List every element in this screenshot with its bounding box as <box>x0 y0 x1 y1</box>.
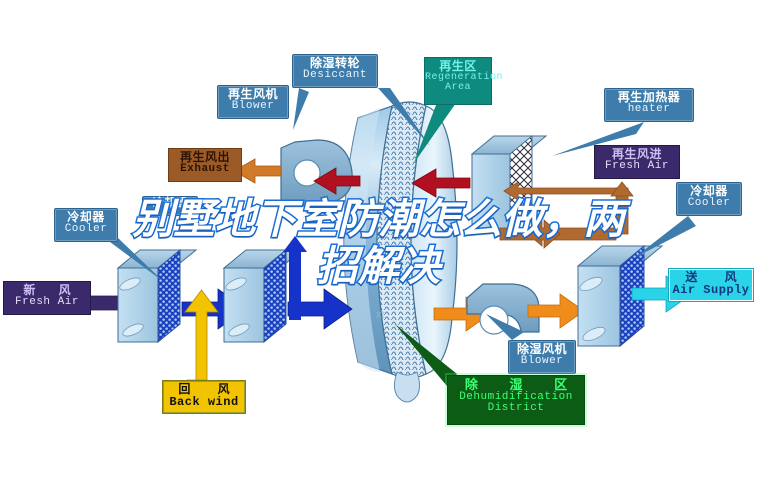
regeneration-heater-graphic <box>472 136 546 230</box>
label-back-wind[interactable]: 回 风 Back wind <box>162 380 246 414</box>
dehumidifier-schematic: xt <box>0 0 757 488</box>
label-process-fresh-air-en: Fresh Air <box>4 297 90 309</box>
label-regeneration-heater[interactable]: 再生加热器 heater <box>604 88 694 122</box>
label-desiccant-rotor-en: Desiccant <box>293 70 377 82</box>
label-air-supply-en: Air Supply <box>669 284 753 297</box>
label-back-wind-en: Back wind <box>163 396 245 409</box>
desiccant-rotor-graphic: xt <box>344 102 457 402</box>
label-cooler-left-en: Cooler <box>55 224 117 236</box>
label-dehumidification-blower-en: Blower <box>509 356 575 368</box>
label-regeneration-exhaust-en: Exhaust <box>169 164 241 176</box>
label-regeneration-fresh-air[interactable]: 再生风进 Fresh Air <box>594 145 680 179</box>
label-cooler-right-cn: 冷却器 <box>677 185 741 198</box>
label-regeneration-blower-en: Blower <box>218 101 288 113</box>
label-cooler-mid-cn: 冷却器 <box>143 198 197 210</box>
label-regeneration-heater-en: heater <box>605 104 693 116</box>
label-regeneration-fresh-air-cn: 再生风进 <box>595 148 679 161</box>
label-regeneration-fresh-air-en: Fresh Air <box>595 161 679 173</box>
label-cooler-right[interactable]: 冷却器 Cooler <box>676 182 742 216</box>
label-regeneration-blower-cn: 再生风机 <box>218 88 288 101</box>
label-back-wind-cn: 回 风 <box>163 383 245 396</box>
label-regeneration-area[interactable]: 再生区 Regeneration Area <box>424 57 492 105</box>
diagram-canvas: xt <box>0 0 757 488</box>
label-dehumidification-district-en: Dehumidification District <box>448 392 584 415</box>
label-air-supply[interactable]: 送 风 Air Supply <box>668 268 754 302</box>
cooler-block-1 <box>118 250 196 342</box>
label-cooler-left-cn: 冷却器 <box>55 211 117 224</box>
label-dehumidification-blower[interactable]: 除湿风机 Blower <box>508 340 576 374</box>
label-process-fresh-air-cn: 新 风 <box>4 284 90 297</box>
label-desiccant-rotor[interactable]: 除湿转轮 Desiccant <box>292 54 378 88</box>
label-regeneration-exhaust[interactable]: 再生风出 Exhaust <box>168 148 242 182</box>
label-cooler-left[interactable]: 冷却器 Cooler <box>54 208 118 242</box>
regeneration-blower-graphic <box>281 140 352 206</box>
label-dehumidification-district-cn: 除 湿 区 <box>448 378 584 392</box>
label-air-supply-cn: 送 风 <box>669 271 753 284</box>
label-dehumidification-district[interactable]: 除 湿 区 Dehumidification District <box>447 375 585 425</box>
label-regeneration-exhaust-cn: 再生风出 <box>169 151 241 164</box>
label-process-fresh-air[interactable]: 新 风 Fresh Air <box>3 281 91 315</box>
label-regeneration-area-en: Regeneration Area <box>425 73 491 94</box>
label-dehumidification-blower-cn: 除湿风机 <box>509 343 575 356</box>
label-regeneration-area-cn: 再生区 <box>425 60 491 73</box>
label-regeneration-blower[interactable]: 再生风机 Blower <box>217 85 289 119</box>
rotor-watermark: xt <box>376 309 385 321</box>
label-regeneration-heater-cn: 再生加热器 <box>605 91 693 104</box>
label-desiccant-rotor-cn: 除湿转轮 <box>293 57 377 70</box>
label-cooler-mid[interactable]: 冷却器 <box>142 196 198 216</box>
label-cooler-right-en: Cooler <box>677 198 741 210</box>
